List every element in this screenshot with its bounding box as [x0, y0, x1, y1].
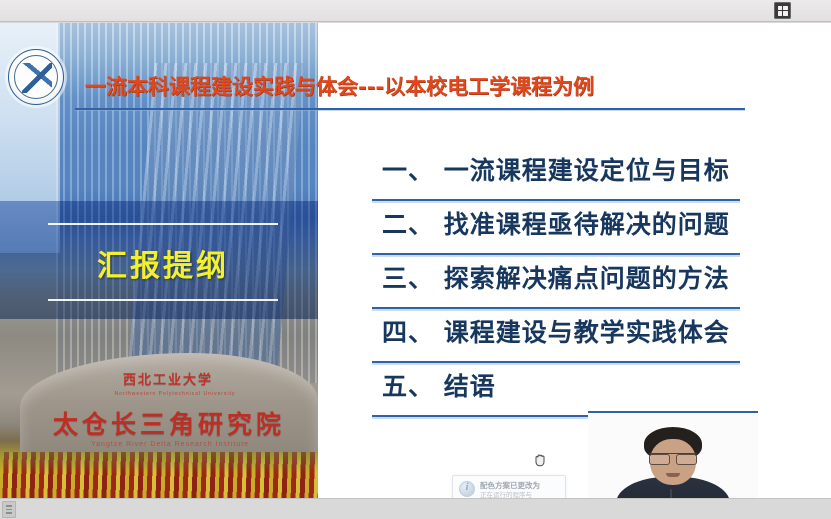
agenda-item-2[interactable]: 二、 找准课程亟待解决的问题: [372, 201, 740, 255]
agenda-item-1[interactable]: 一、 一流课程建设定位与目标: [372, 147, 740, 201]
emblem-swoosh-icon: [22, 63, 52, 93]
outline-heading-block: 汇报提纲: [48, 223, 278, 301]
monument-university-name-en: Northwestern Polytechnical University: [80, 391, 270, 397]
slide-title: 一流本科课程建设实践与体会---以本校电工学课程为例: [85, 71, 725, 105]
agenda-item-4-label: 四、 课程建设与教学实践体会: [382, 313, 730, 349]
toast-message: 正在运行的程序与 Windows 透明度效果不兼容。: [480, 491, 559, 498]
agenda-item-1-label: 一、 一流课程建设定位与目标: [382, 151, 730, 187]
bottom-status-bar: [0, 498, 831, 519]
presenter-video-thumbnail[interactable]: [588, 411, 758, 498]
grab-hand-cursor: [534, 453, 547, 467]
jacket-zipper: [670, 489, 672, 498]
hamburger-icon[interactable]: [2, 501, 16, 518]
presenter-avatar: [614, 427, 732, 498]
university-emblem-logo: [8, 49, 64, 105]
top-toolbar: [0, 0, 831, 22]
presentation-slide[interactable]: 西北工业大学 Northwestern Polytechnical Univer…: [0, 23, 765, 498]
agenda-item-3[interactable]: 三、 探索解决痛点问题的方法: [372, 255, 740, 309]
outline-heading-text: 汇报提纲: [48, 241, 278, 285]
monument-institute-name-en: Yangtze River Delta Research Institute: [50, 441, 290, 448]
agenda-item-3-label: 三、 探索解决痛点问题的方法: [382, 259, 730, 295]
agenda-item-2-label: 二、 找准课程亟待解决的问题: [382, 205, 730, 241]
agenda-item-5-label: 五、 结语: [382, 367, 496, 403]
monument-university-name: 西北工业大学: [58, 369, 278, 388]
toast-title: 配色方案已更改为: [480, 481, 559, 491]
agenda-item-5[interactable]: 五、 结语: [372, 363, 740, 417]
outline-rule-top: [48, 223, 278, 225]
monument-institute-name: 太仓长三角研究院: [38, 405, 300, 441]
agenda-list: 一、 一流课程建设定位与目标 二、 找准课程亟待解决的问题 三、 探索解决痛点问…: [372, 147, 740, 417]
info-icon: [459, 481, 475, 497]
screen-share-window: 西北工业大学 Northwestern Polytechnical Univer…: [0, 0, 831, 519]
right-gutter: [765, 23, 831, 498]
windows-notification-toast[interactable]: 配色方案已更改为 正在运行的程序与 Windows 透明度效果不兼容。: [452, 475, 566, 498]
grid-view-icon[interactable]: [774, 2, 791, 19]
presenter-mouth: [666, 473, 680, 477]
glasses-icon: [649, 453, 697, 462]
flowerbed-image: [0, 452, 318, 498]
agenda-item-4[interactable]: 四、 课程建设与教学实践体会: [372, 309, 740, 363]
title-underline: [75, 108, 745, 110]
outline-rule-bottom: [48, 299, 278, 301]
